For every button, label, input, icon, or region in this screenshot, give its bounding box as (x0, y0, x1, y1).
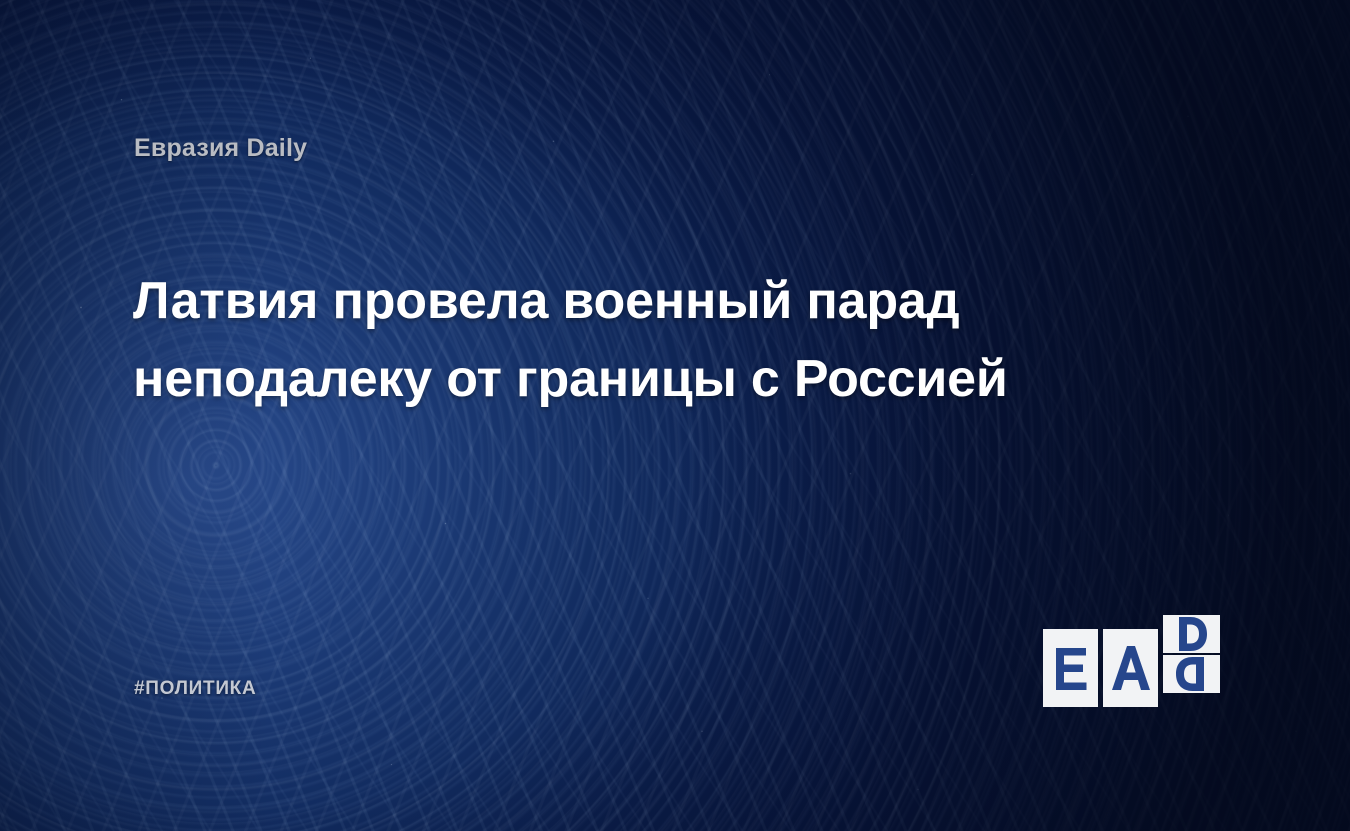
brand-label: Евразия Daily (134, 134, 307, 163)
card-content: Евразия Daily Латвия провела военный пар… (0, 0, 1350, 831)
eadaily-logo (1043, 629, 1223, 707)
logo-letter-e-icon (1054, 646, 1088, 690)
logo-tile-a (1103, 629, 1158, 707)
logo-letter-a-icon (1112, 646, 1150, 690)
category-hashtag: #ПОЛИТИКА (134, 678, 256, 700)
logo-tile-e (1043, 629, 1098, 707)
social-share-card: Евразия Daily Латвия провела военный пар… (0, 0, 1350, 831)
headline-line-1: Латвия провела военный парад (133, 262, 1093, 340)
logo-tile-d-bottom (1163, 655, 1220, 693)
logo-letter-d-icon (1177, 617, 1207, 651)
logo-letter-d-rotated-icon (1177, 657, 1207, 691)
logo-tile-d-top (1163, 615, 1220, 653)
page-title: Латвия провела военный парад неподалеку … (133, 262, 1093, 418)
headline-line-2: неподалеку от границы с Россией (133, 340, 1093, 418)
logo-tile-stack-d (1163, 615, 1220, 693)
